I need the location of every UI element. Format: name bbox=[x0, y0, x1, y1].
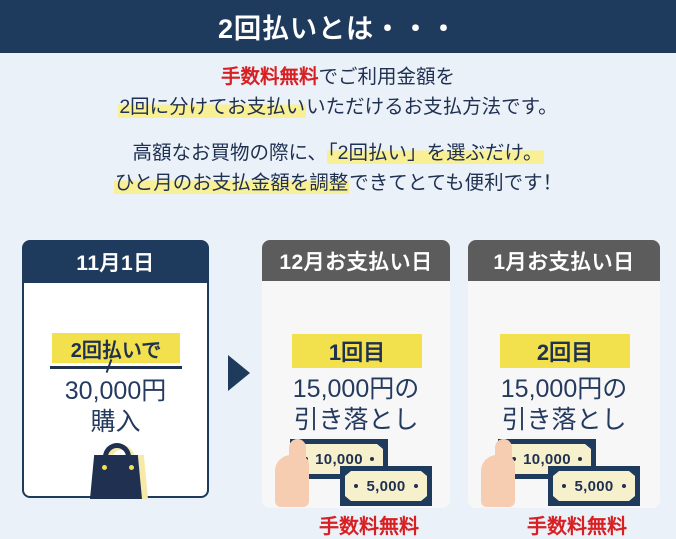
banknote-5000-face: 5,000 bbox=[345, 471, 427, 501]
card-payment-2: 1月お支払い日 2回目 15,000円の 引き落とし 10,000 bbox=[468, 240, 660, 508]
hand-palm bbox=[481, 455, 515, 507]
card-payment-2-badge: 2回目 bbox=[500, 334, 630, 368]
card-payment-1-header: 12月お支払い日 bbox=[262, 240, 450, 281]
card-payment-1-body: 1回目 15,000円の 引き落とし 10,000 5,00 bbox=[262, 281, 450, 508]
shopping-bag-dot-right bbox=[129, 465, 134, 470]
shopping-bag-dot-left bbox=[102, 465, 107, 470]
card-payment-2-date-label: 1月お支払い日 bbox=[493, 246, 634, 276]
card-payment-2-badge-label: 2回目 bbox=[537, 335, 593, 367]
shopping-bag-icon bbox=[86, 443, 150, 499]
shopping-bag-body bbox=[90, 455, 142, 499]
card-purchase-date-label: 11月1日 bbox=[76, 247, 154, 277]
banknote-dot-right bbox=[578, 457, 582, 461]
card-purchase-amount-line2: 購入 bbox=[90, 408, 140, 436]
card-payment-1-badge: 1回目 bbox=[292, 334, 422, 368]
card-payment-2-fee-label: 手数料無料 bbox=[468, 510, 660, 539]
banknote-5000: 5,000 bbox=[340, 466, 432, 506]
card-payment-1: 12月お支払い日 1回目 15,000円の 引き落とし 10,000 bbox=[262, 240, 450, 508]
card-payment-1-amount-line1: 15,000円の bbox=[293, 375, 419, 403]
card-purchase-badge-label: 2回払いで bbox=[71, 334, 162, 363]
card-payment-2-amount-line1: 15,000円の bbox=[501, 375, 627, 403]
card-payment-1-amount: 15,000円の 引き落とし bbox=[262, 374, 450, 436]
banknote-10000-value: 10,000 bbox=[315, 451, 363, 468]
card-payment-2-body: 2回目 15,000円の 引き落とし 10,000 5,00 bbox=[468, 281, 660, 508]
card-payment-2-amount-line2: 引き落とし bbox=[501, 406, 626, 434]
card-purchase-badge: 2回払いで bbox=[52, 333, 180, 363]
banknote-5000: 5,000 bbox=[548, 466, 640, 506]
banknote-dot-left bbox=[354, 484, 358, 488]
banknote-5000-value: 5,000 bbox=[366, 478, 405, 495]
banknote-5000-face: 5,000 bbox=[553, 471, 635, 501]
card-purchase-header: 11月1日 bbox=[22, 240, 209, 283]
hand-icon bbox=[473, 439, 525, 507]
card-purchase-amount: 30,000円 購入 bbox=[24, 376, 207, 438]
card-payment-1-badge-label: 1回目 bbox=[329, 335, 385, 367]
card-payment-1-amount-line2: 引き落とし bbox=[293, 406, 418, 434]
banknote-dot-right bbox=[414, 484, 418, 488]
hand-palm bbox=[275, 455, 309, 507]
banknote-5000-value: 5,000 bbox=[574, 478, 613, 495]
card-payment-2-header: 1月お支払い日 bbox=[468, 240, 660, 281]
banknote-dot-left bbox=[562, 484, 566, 488]
card-payment-1-fee-label: 手数料無料 bbox=[262, 510, 450, 539]
card-purchase-amount-line1: 30,000円 bbox=[65, 377, 166, 405]
card-payment-1-date-label: 12月お支払い日 bbox=[279, 246, 432, 276]
card-purchase-body: 2回払いで 30,000円 購入 bbox=[22, 283, 209, 498]
arrow-right-icon bbox=[228, 355, 250, 391]
banknote-dot-right bbox=[622, 484, 626, 488]
card-purchase-underline bbox=[50, 366, 182, 369]
card-purchase: 11月1日 2回払いで 30,000円 購入 bbox=[22, 240, 209, 498]
timeline-cards: 11月1日 2回払いで 30,000円 購入 bbox=[0, 0, 676, 526]
hand-icon bbox=[267, 439, 319, 507]
banknote-dot-right bbox=[370, 457, 374, 461]
banknote-10000-value: 10,000 bbox=[523, 451, 571, 468]
card-payment-2-amount: 15,000円の 引き落とし bbox=[468, 374, 660, 436]
